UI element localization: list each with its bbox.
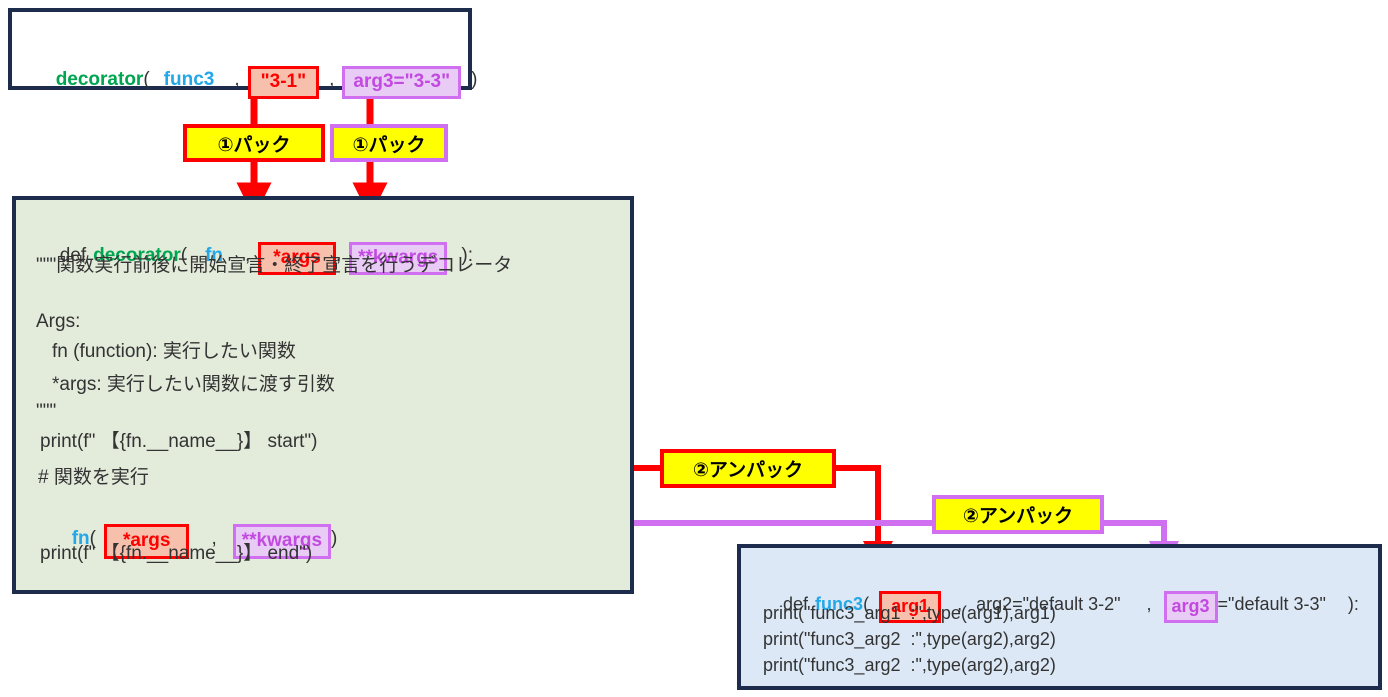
func3-paren-close: ): bbox=[1348, 594, 1359, 614]
decorator-def-panel: defdecorator(fn,*args,**kwargs): """関数実行… bbox=[12, 196, 634, 594]
call-arg-fn: func3 bbox=[164, 69, 215, 90]
func3-comma-2: , bbox=[1147, 594, 1152, 614]
wire-unpack-to-arg1 bbox=[836, 468, 878, 556]
unpack-label-args-text: ②アンパック bbox=[693, 455, 803, 482]
pack-label-args: ①パック bbox=[183, 124, 325, 162]
decorator-docstring-open: """関数実行前後に開始宣言・終了宣言を行うデコレータ bbox=[36, 256, 512, 276]
decorator-print-start: print(f" 【{fn.__name__}】 start") bbox=[40, 432, 318, 452]
call-comma-2: , bbox=[329, 69, 334, 90]
diagram-canvas: decorator(func3,"3-1",arg3="3-3") ①パック ①… bbox=[0, 0, 1388, 697]
unpack-label-args: ②アンパック bbox=[660, 449, 836, 488]
pack-label-kwargs-text: ①パック bbox=[352, 130, 425, 157]
func3-def-panel: deffunc3(arg1,arg2="default 3-2",arg3="d… bbox=[737, 544, 1382, 690]
call-func-name: decorator bbox=[56, 69, 144, 90]
func3-body-line-1: print("func3_arg1 :",type(arg1),arg1) bbox=[763, 604, 1056, 623]
call-comma-1: , bbox=[234, 69, 239, 90]
func3-body-line-3: print("func3_arg2 :",type(arg2),arg2) bbox=[763, 656, 1056, 675]
unpack-label-kwargs: ②アンパック bbox=[932, 495, 1104, 534]
unpack-label-kwargs-text: ②アンパック bbox=[963, 501, 1073, 528]
decorator-print-end: print(f" 【{fn.__name__}】 end") bbox=[40, 544, 312, 564]
call-paren-open: ( bbox=[143, 69, 149, 90]
call-paren-close: ) bbox=[471, 69, 477, 90]
decorator-docstring-close: """ bbox=[36, 402, 56, 422]
decorator-docstring-args-header: Args: bbox=[36, 312, 80, 332]
func3-body-line-2: print("func3_arg2 :",type(arg2),arg2) bbox=[763, 630, 1056, 649]
decorator-call-line: decorator(func3,"3-1",arg3="3-3") bbox=[24, 44, 477, 117]
decorator-call-fn-line: fn(*args,**kwargs) bbox=[40, 502, 337, 577]
pack-label-kwargs: ①パック bbox=[330, 124, 448, 162]
decorator-docstring-args: *args: 実行したい関数に渡す引数 bbox=[52, 375, 335, 395]
decorator-call-paren-close: ) bbox=[331, 528, 337, 549]
decorator-comment-run: # 関数を実行 bbox=[38, 468, 149, 488]
decorator-call-panel: decorator(func3,"3-1",arg3="3-3") bbox=[8, 8, 472, 90]
decorator-docstring-fn: fn (function): 実行したい関数 bbox=[52, 342, 296, 362]
func3-param-arg3-chip: arg3 bbox=[1164, 591, 1218, 623]
call-arg-keyword-chip: arg3="3-3" bbox=[342, 66, 461, 99]
pack-label-args-text: ①パック bbox=[217, 130, 290, 157]
func3-param-arg3-default: ="default 3-3" bbox=[1218, 594, 1326, 614]
call-arg-positional-chip: "3-1" bbox=[248, 66, 319, 99]
